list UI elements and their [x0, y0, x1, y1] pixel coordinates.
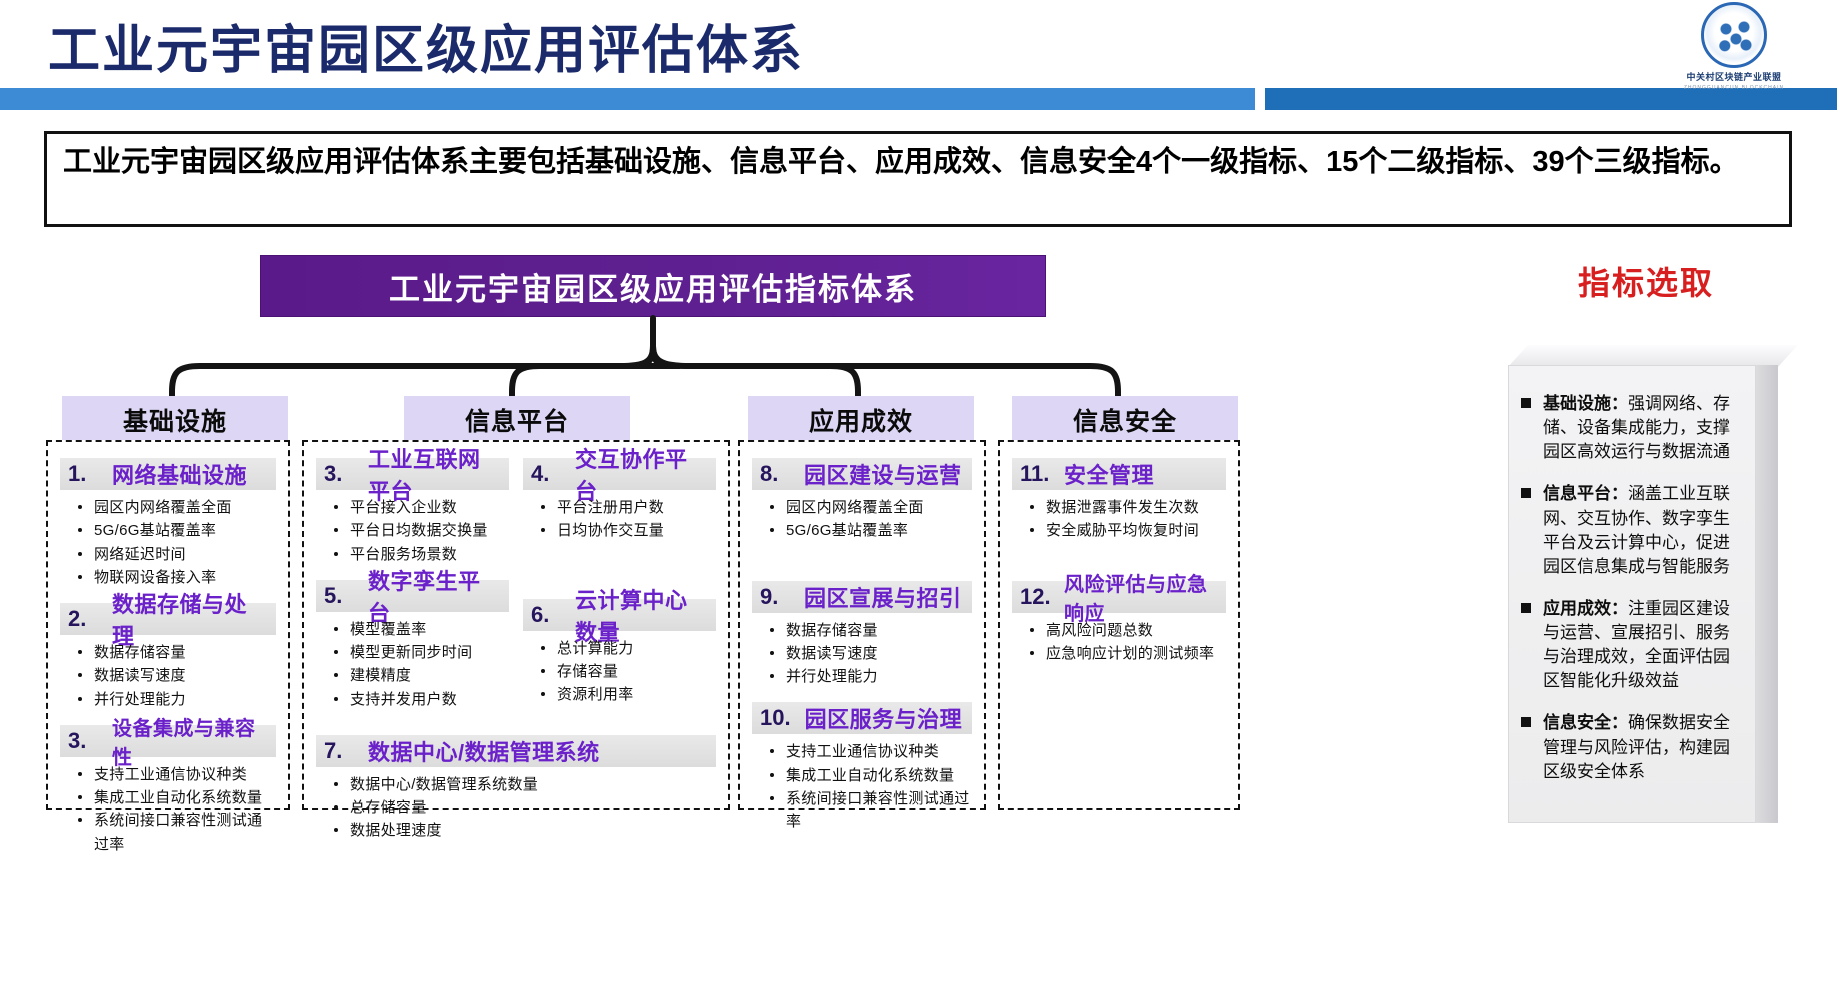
- metric-item-list: 数据中心/数据管理系统数量 总存储容量 数据处理速度: [316, 767, 716, 843]
- metric-item: 数据处理速度: [350, 819, 716, 842]
- metric-item: 存储容量: [557, 660, 716, 683]
- metric-item: 建模精度: [350, 664, 509, 687]
- right-panel-title: 指标选取: [1578, 258, 1714, 304]
- metric-header: 10. 园区服务与治理: [752, 702, 972, 734]
- metric-header: 9. 园区宣展与招引: [752, 581, 972, 613]
- metric-item: 总存储容量: [350, 796, 716, 819]
- category-header-infrastructure: 基础设施: [62, 396, 288, 444]
- metric-number: 1.: [68, 461, 98, 487]
- metric-item-list: 平台注册用户数 日均协作交互量: [523, 490, 716, 543]
- metric-item: 模型覆盖率: [350, 618, 509, 641]
- metric-item-list: 园区内网络覆盖全面 5G/6G基站覆盖率: [752, 490, 972, 543]
- metric-number: 8.: [760, 461, 790, 487]
- metric-item: 应急响应计划的测试频率: [1046, 642, 1226, 665]
- metric-group: 2. 数据存储与处理 数据存储容量 数据读写速度 并行处理能力: [60, 603, 276, 711]
- metric-item: 模型更新同步时间: [350, 641, 509, 664]
- title-divider-rule: [0, 88, 1837, 110]
- metric-item: 日均协作交互量: [557, 519, 716, 542]
- metric-item-list: 园区内网络覆盖全面 5G/6G基站覆盖率 网络延迟时间 物联网设备接入率: [60, 490, 276, 589]
- metric-item-list: 数据泄露事件发生次数 安全威胁平均恢复时间: [1012, 490, 1226, 543]
- metric-item: 资源利用率: [557, 683, 716, 706]
- metric-number: 3.: [324, 461, 354, 487]
- page-title: 工业元宇宙园区级应用评估体系: [48, 8, 804, 83]
- metric-number: 2.: [68, 606, 98, 632]
- metric-item: 平台日均数据交换量: [350, 519, 509, 542]
- metric-group: 3. 工业互联网平台 平台接入企业数 平台日均数据交换量 平台服务场景数: [316, 458, 509, 566]
- metric-group: 3. 设备集成与兼容性 支持工业通信协议种类 集成工业自动化系统数量 系统间接口…: [60, 725, 276, 856]
- panel-item-lead: 信息平台：: [1543, 484, 1628, 503]
- column-security: 11. 安全管理 数据泄露事件发生次数 安全威胁平均恢复时间 12. 风险评估与…: [998, 440, 1240, 810]
- metric-item-list: 高风险问题总数 应急响应计划的测试频率: [1012, 613, 1226, 666]
- column-infrastructure: 1. 网络基础设施 园区内网络覆盖全面 5G/6G基站覆盖率 网络延迟时间 物联…: [46, 440, 290, 810]
- metric-header: 6. 云计算中心数量: [523, 599, 716, 631]
- metric-header: 11. 安全管理: [1012, 458, 1226, 490]
- metric-number: 4.: [531, 461, 561, 487]
- panel-item-lead: 基础设施：: [1543, 394, 1628, 413]
- category-label: 信息平台: [465, 402, 569, 438]
- panel-list-item: 基础设施：强调网络、存储、设备集成能力，支撑园区高效运行与数据流通: [1521, 392, 1743, 464]
- metric-item-list: 数据存储容量 数据读写速度 并行处理能力: [60, 635, 276, 711]
- metric-item: 高风险问题总数: [1046, 619, 1226, 642]
- logo-sublabel: ZHONGGUANCUN BLOCKCHAIN: [1659, 85, 1809, 91]
- column-effect: 8. 园区建设与运营 园区内网络覆盖全面 5G/6G基站覆盖率 9. 园区宣展与…: [738, 440, 986, 810]
- organization-logo: 中关村区块链产业联盟 ZHONGGUANCUN BLOCKCHAIN: [1659, 2, 1809, 94]
- metric-item: 平台服务场景数: [350, 543, 509, 566]
- metric-group: 10. 园区服务与治理 支持工业通信协议种类 集成工业自动化系统数量 系统间接口…: [752, 702, 972, 833]
- metric-item: 平台接入企业数: [350, 496, 509, 519]
- metric-header: 3. 工业互联网平台: [316, 458, 509, 490]
- panel-list-item: 应用成效：注重园区建设与运营、宣展招引、服务与治理成效，全面评估园区智能化升级效…: [1521, 597, 1743, 694]
- metric-title: 网络基础设施: [112, 458, 247, 490]
- root-node-label: 工业元宇宙园区级应用评估指标体系: [389, 264, 917, 309]
- metric-item: 园区内网络覆盖全面: [786, 496, 972, 519]
- metric-group: 4. 交互协作平台 平台注册用户数 日均协作交互量: [523, 458, 716, 543]
- metric-header: 1. 网络基础设施: [60, 458, 276, 490]
- metric-title: 园区服务与治理: [805, 702, 963, 734]
- metric-number: 10.: [760, 705, 791, 731]
- metric-item: 支持工业通信协议种类: [786, 740, 972, 763]
- panel-item-lead: 信息安全：: [1543, 713, 1628, 732]
- metric-item: 5G/6G基站覆盖率: [786, 519, 972, 542]
- metric-item: 集成工业自动化系统数量: [94, 786, 276, 809]
- metric-item: 数据中心/数据管理系统数量: [350, 773, 716, 796]
- category-label: 信息安全: [1073, 402, 1177, 438]
- metric-title: 园区宣展与招引: [804, 581, 962, 613]
- metric-item: 支持工业通信协议种类: [94, 763, 276, 786]
- metric-header: 2. 数据存储与处理: [60, 603, 276, 635]
- metric-item-list: 支持工业通信协议种类 集成工业自动化系统数量 系统间接口兼容性测试通过率: [752, 734, 972, 833]
- metric-header: 5. 数字孪生平台: [316, 580, 509, 612]
- rule-segment-left: [0, 88, 1255, 110]
- metric-group: 1. 网络基础设施 园区内网络覆盖全面 5G/6G基站覆盖率 网络延迟时间 物联…: [60, 458, 276, 589]
- panel-list-item: 信息安全：确保数据安全管理与风险评估，构建园区级安全体系: [1521, 711, 1743, 783]
- metric-item: 并行处理能力: [94, 688, 276, 711]
- metric-item: 物联网设备接入率: [94, 566, 276, 589]
- metric-item: 总计算能力: [557, 637, 716, 660]
- logo-network-icon: [1701, 2, 1767, 68]
- logo-label: 中关村区块链产业联盟: [1659, 70, 1809, 83]
- metric-item: 网络延迟时间: [94, 543, 276, 566]
- metric-item-list: 数据存储容量 数据读写速度 并行处理能力: [752, 613, 972, 689]
- metric-item: 数据存储容量: [94, 641, 276, 664]
- metric-group: 8. 园区建设与运营 园区内网络覆盖全面 5G/6G基站覆盖率: [752, 458, 972, 543]
- metric-group: 9. 园区宣展与招引 数据存储容量 数据读写速度 并行处理能力: [752, 581, 972, 689]
- metric-header: 7. 数据中心/数据管理系统: [316, 735, 716, 767]
- category-label: 应用成效: [809, 402, 913, 438]
- panel-front-face: 基础设施：强调网络、存储、设备集成能力，支撑园区高效运行与数据流通 信息平台：涵…: [1508, 365, 1756, 823]
- panel-item-lead: 应用成效：: [1543, 599, 1628, 618]
- metric-group: 11. 安全管理 数据泄露事件发生次数 安全威胁平均恢复时间: [1012, 458, 1226, 543]
- metric-item: 数据读写速度: [786, 642, 972, 665]
- metric-number: 5.: [324, 583, 354, 609]
- panel-top-face: [1508, 345, 1798, 367]
- root-node: 工业元宇宙园区级应用评估指标体系: [260, 255, 1046, 317]
- panel-list-item: 信息平台：涵盖工业互联网、交互协作、数字孪生平台及云计算中心，促进园区信息集成与…: [1521, 482, 1743, 579]
- metric-item: 支持并发用户数: [350, 688, 509, 711]
- panel-item-list: 基础设施：强调网络、存储、设备集成能力，支撑园区高效运行与数据流通 信息平台：涵…: [1521, 392, 1743, 784]
- metric-group: 5. 数字孪生平台 模型覆盖率 模型更新同步时间 建模精度 支持并发用户数: [316, 580, 509, 711]
- metric-number: 7.: [324, 738, 354, 764]
- metric-item: 系统间接口兼容性测试通过率: [786, 787, 972, 834]
- metric-group: 6. 云计算中心数量 总计算能力 存储容量 资源利用率: [523, 599, 716, 707]
- metric-item: 5G/6G基站覆盖率: [94, 519, 276, 542]
- summary-text: 工业元宇宙园区级应用评估体系主要包括基础设施、信息平台、应用成效、信息安全4个一…: [63, 142, 1773, 183]
- metric-number: 11.: [1020, 461, 1050, 487]
- metric-item: 平台注册用户数: [557, 496, 716, 519]
- metric-item: 集成工业自动化系统数量: [786, 764, 972, 787]
- metric-item: 数据泄露事件发生次数: [1046, 496, 1226, 519]
- column-platform: 3. 工业互联网平台 平台接入企业数 平台日均数据交换量 平台服务场景数 5. …: [302, 440, 730, 810]
- metric-title: 园区建设与运营: [804, 458, 962, 490]
- metric-header: 12. 风险评估与应急响应: [1012, 581, 1226, 613]
- metric-group: 12. 风险评估与应急响应 高风险问题总数 应急响应计划的测试频率: [1012, 581, 1226, 666]
- metric-item-list: 模型覆盖率 模型更新同步时间 建模精度 支持并发用户数: [316, 612, 509, 711]
- metric-header: 3. 设备集成与兼容性: [60, 725, 276, 757]
- metric-number: 3.: [68, 728, 98, 754]
- metric-header: 8. 园区建设与运营: [752, 458, 972, 490]
- metric-item-list: 总计算能力 存储容量 资源利用率: [523, 631, 716, 707]
- metric-item: 数据存储容量: [786, 619, 972, 642]
- metric-item-list: 平台接入企业数 平台日均数据交换量 平台服务场景数: [316, 490, 509, 566]
- metric-item: 并行处理能力: [786, 665, 972, 688]
- category-label: 基础设施: [123, 402, 227, 438]
- metric-item: 园区内网络覆盖全面: [94, 496, 276, 519]
- metric-group: 7. 数据中心/数据管理系统 数据中心/数据管理系统数量 总存储容量 数据处理速…: [316, 735, 716, 843]
- metric-item: 系统间接口兼容性测试通过率: [94, 809, 276, 856]
- metric-title: 设备集成与兼容性: [112, 712, 268, 770]
- category-header-effect: 应用成效: [748, 396, 974, 444]
- metric-item: 数据读写速度: [94, 664, 276, 687]
- metric-item: 安全威胁平均恢复时间: [1046, 519, 1226, 542]
- metric-number: 9.: [760, 584, 790, 610]
- rule-segment-gap: [1255, 88, 1265, 110]
- metric-title: 安全管理: [1064, 458, 1154, 490]
- metric-title: 数据中心/数据管理系统: [368, 735, 600, 767]
- metric-item-list: 支持工业通信协议种类 集成工业自动化系统数量 系统间接口兼容性测试通过率: [60, 757, 276, 856]
- metric-header: 4. 交互协作平台: [523, 458, 716, 490]
- metric-title: 风险评估与应急响应: [1064, 568, 1218, 626]
- category-header-platform: 信息平台: [404, 396, 630, 444]
- metric-number: 12.: [1020, 584, 1050, 610]
- metric-number: 6.: [531, 602, 561, 628]
- indicator-selection-panel: 基础设施：强调网络、存储、设备集成能力，支撑园区高效运行与数据流通 信息平台：涵…: [1490, 345, 1780, 823]
- summary-box: 工业元宇宙园区级应用评估体系主要包括基础设施、信息平台、应用成效、信息安全4个一…: [44, 131, 1792, 227]
- panel-side-face: [1756, 365, 1778, 823]
- category-header-security: 信息安全: [1012, 396, 1238, 444]
